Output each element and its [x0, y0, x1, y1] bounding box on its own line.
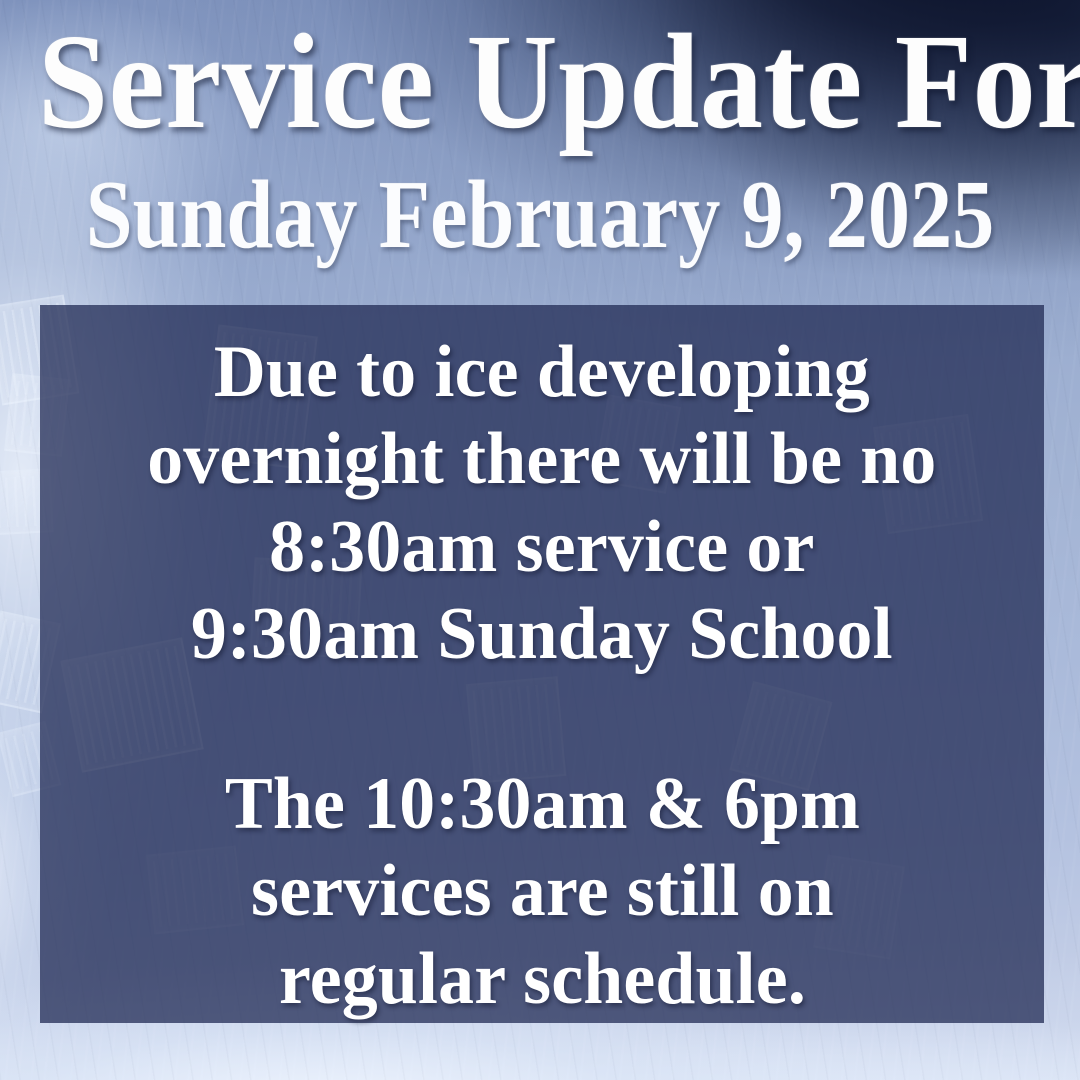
announcement-graphic: Service Update For Sunday February 9, 20…	[0, 0, 1080, 1080]
page-title: Service Update For	[38, 0, 1042, 150]
paragraph-unchanged-notice: The 10:30am & 6pm services are still on …	[207, 761, 877, 1023]
message-panel: Due to ice developing overnight there wi…	[40, 305, 1044, 1023]
paragraph-line: services are still on	[224, 848, 859, 935]
paragraph-line: 9:30am Sunday School	[147, 591, 936, 678]
paragraph-cancellation-notice: Due to ice developing overnight there wi…	[130, 329, 954, 678]
paragraph-line: Due to ice developing	[147, 329, 936, 416]
paragraph-line: The 10:30am & 6pm	[224, 761, 859, 848]
paragraph-line: 8:30am service or	[147, 504, 936, 591]
paragraph-line: overnight there will be no	[147, 416, 936, 503]
paragraph-line: regular schedule.	[224, 936, 859, 1023]
message-panel-content: Due to ice developing overnight there wi…	[40, 305, 1044, 1023]
heading-block: Service Update For Sunday February 9, 20…	[0, 0, 1080, 264]
page-subtitle-date: Sunday February 9, 2025	[76, 166, 1005, 264]
